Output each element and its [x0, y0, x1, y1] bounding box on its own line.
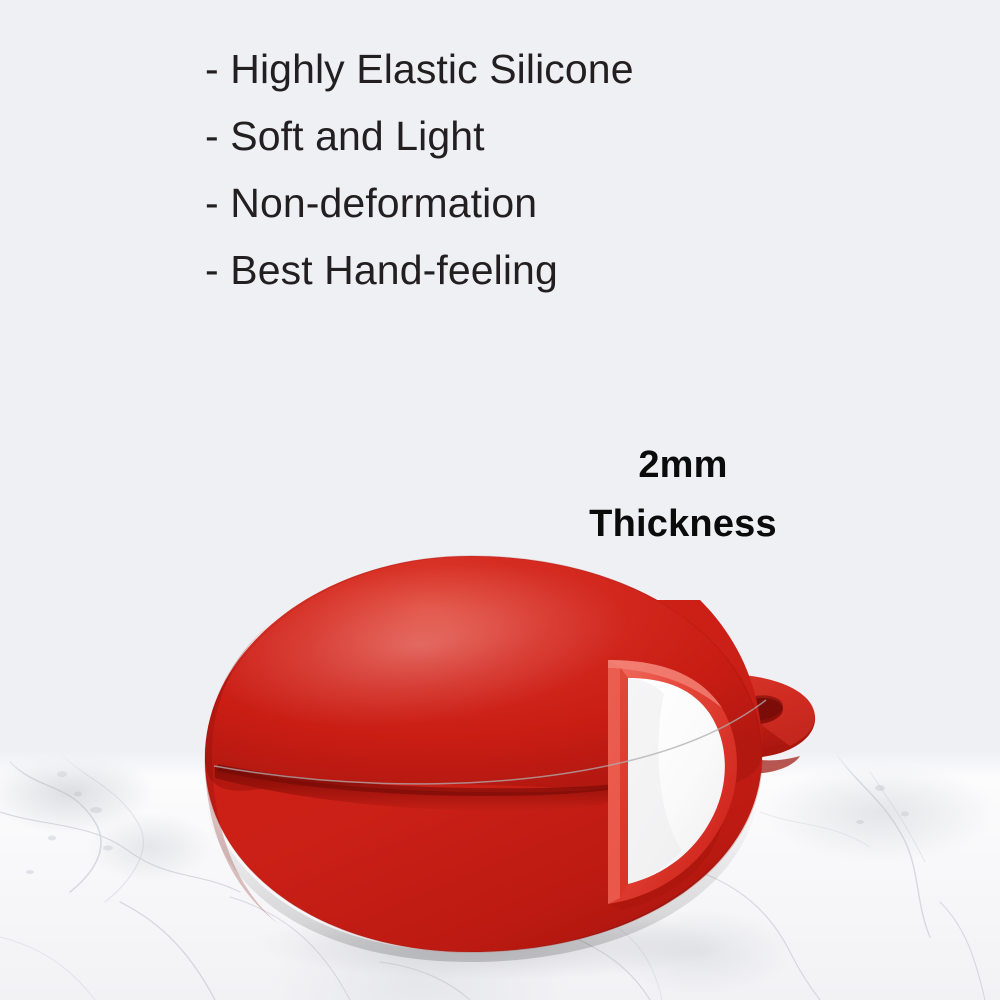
- cut-wall-left-face: [608, 660, 620, 904]
- product-image-silicone-case: [0, 0, 1000, 1000]
- product-feature-image: - Highly Elastic Silicone - Soft and Lig…: [0, 0, 1000, 1000]
